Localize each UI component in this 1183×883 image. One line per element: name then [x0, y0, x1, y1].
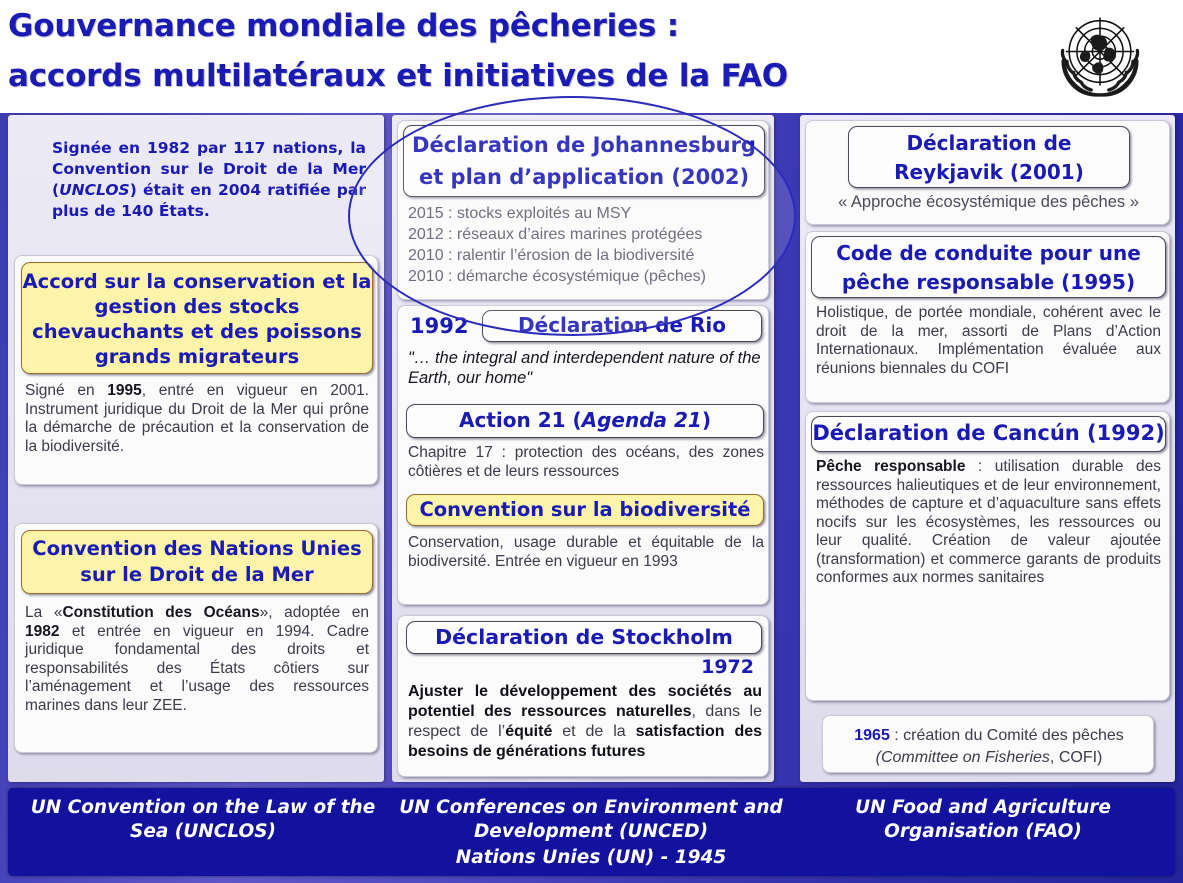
- biodiversity-body: Conservation, usage durable et équitable…: [408, 534, 764, 571]
- un-emblem-icon: [1045, 2, 1155, 112]
- footer-label-unced: UN Conferences on Environment and Develo…: [396, 796, 786, 844]
- panel-title-straddling-stocks: Accord sur la conservation et la gestion…: [21, 262, 373, 374]
- action21-body: Chapitre 17 : protection des océans, des…: [408, 444, 764, 481]
- johannesburg-item: 2010 : démarche écosystémique (pêches): [408, 266, 764, 287]
- panel-unclos: Convention des Nations Unies sur le Droi…: [14, 523, 378, 753]
- copyright-notice: © Ph Gros – Ifremer: [8, 766, 107, 778]
- panel-title-action21: Action 21 (Agenda 21): [406, 404, 764, 438]
- johannesburg-item: 2012 : réseaux d’aires marines protégées: [408, 224, 764, 245]
- rio-quote-text: "… the integral and interdependent natur…: [408, 348, 764, 388]
- panel-cancun: Déclaration de Cancún (1992) Pêche respo…: [805, 411, 1170, 701]
- column-unced: Déclaration de Johannesburg et plan d’ap…: [392, 115, 774, 782]
- page-title-line2: accords multilatéraux et initiatives de …: [8, 58, 788, 94]
- panel-rio: 1992 Déclaration de Rio "… the integral …: [397, 305, 769, 605]
- page-title-line1: Gouvernance mondiale des pêcheries :: [8, 8, 679, 44]
- cofi-body: 1965 : création du Comité des pêches(Com…: [833, 725, 1145, 769]
- footer-label-un: Nations Unies (UN) - 1945: [396, 846, 786, 870]
- panel-title-code-conduite: Code de conduite pour une pêche responsa…: [811, 236, 1166, 298]
- slide-canvas: Gouvernance mondiale des pêcheries : acc…: [0, 0, 1183, 883]
- johannesburg-target-list: 2015 : stocks exploités au MSY 2012 : ré…: [408, 203, 764, 287]
- unclos-intro-text: Signée en 1982 par 117 nations, la Conve…: [52, 138, 366, 222]
- panel-straddling-stocks: Accord sur la conservation et la gestion…: [14, 255, 378, 485]
- column-unclos: Signée en 1982 par 117 nations, la Conve…: [8, 115, 384, 782]
- panel-reykjavik: Déclaration de Reykjavik (2001) « Approc…: [805, 120, 1170, 225]
- slide-footer: UN Convention on the Law of the Sea (UNC…: [8, 788, 1175, 876]
- footer-label-fao: UN Food and Agriculture Organisation (FA…: [808, 796, 1158, 844]
- panel-title-johannesburg: Déclaration de Johannesburg et plan d’ap…: [403, 125, 765, 197]
- footer-label-unclos: UN Convention on the Law of the Sea (UNC…: [28, 796, 378, 844]
- panel-code-conduite: Code de conduite pour une pêche responsa…: [805, 231, 1170, 403]
- cancun-body: Pêche responsable : utilisation durable …: [816, 458, 1161, 588]
- stockholm-year-label: 1972: [701, 656, 754, 678]
- column-fao: Déclaration de Reykjavik (2001) « Approc…: [800, 115, 1175, 782]
- rio-year-label: 1992: [410, 314, 468, 338]
- johannesburg-item: 2010 : ralentir l’érosion de la biodiver…: [408, 245, 764, 266]
- panel-body-straddling-stocks: Signé en 1995, entré en vigueur en 2001.…: [25, 382, 369, 456]
- panel-body-unclos: La «Constitution des Océans», adoptée en…: [25, 604, 369, 715]
- panel-title-reykjavik: Déclaration de Reykjavik (2001): [848, 126, 1130, 188]
- stockholm-body: Ajuster le développement des sociétés au…: [408, 682, 762, 762]
- panel-stockholm: Déclaration de Stockholm 1972 Ajuster le…: [397, 615, 769, 777]
- panel-cofi: 1965 : création du Comité des pêches(Com…: [822, 715, 1154, 773]
- panel-title-stockholm: Déclaration de Stockholm: [406, 621, 762, 654]
- panel-title-biodiversity: Convention sur la biodiversité: [406, 494, 764, 526]
- slide-header: Gouvernance mondiale des pêcheries : acc…: [0, 0, 1183, 113]
- johannesburg-item: 2015 : stocks exploités au MSY: [408, 203, 764, 224]
- code-conduite-body: Holistique, de portée mondiale, cohérent…: [816, 304, 1161, 378]
- panel-johannesburg: Déclaration de Johannesburg et plan d’ap…: [397, 120, 769, 300]
- reykjavik-subtitle: « Approche écosystémique des pêches »: [816, 193, 1161, 212]
- panel-title-unclos: Convention des Nations Unies sur le Droi…: [21, 530, 373, 594]
- panel-title-cancun: Déclaration de Cancún (1992): [811, 416, 1166, 452]
- panel-title-rio: Déclaration de Rio: [482, 310, 762, 342]
